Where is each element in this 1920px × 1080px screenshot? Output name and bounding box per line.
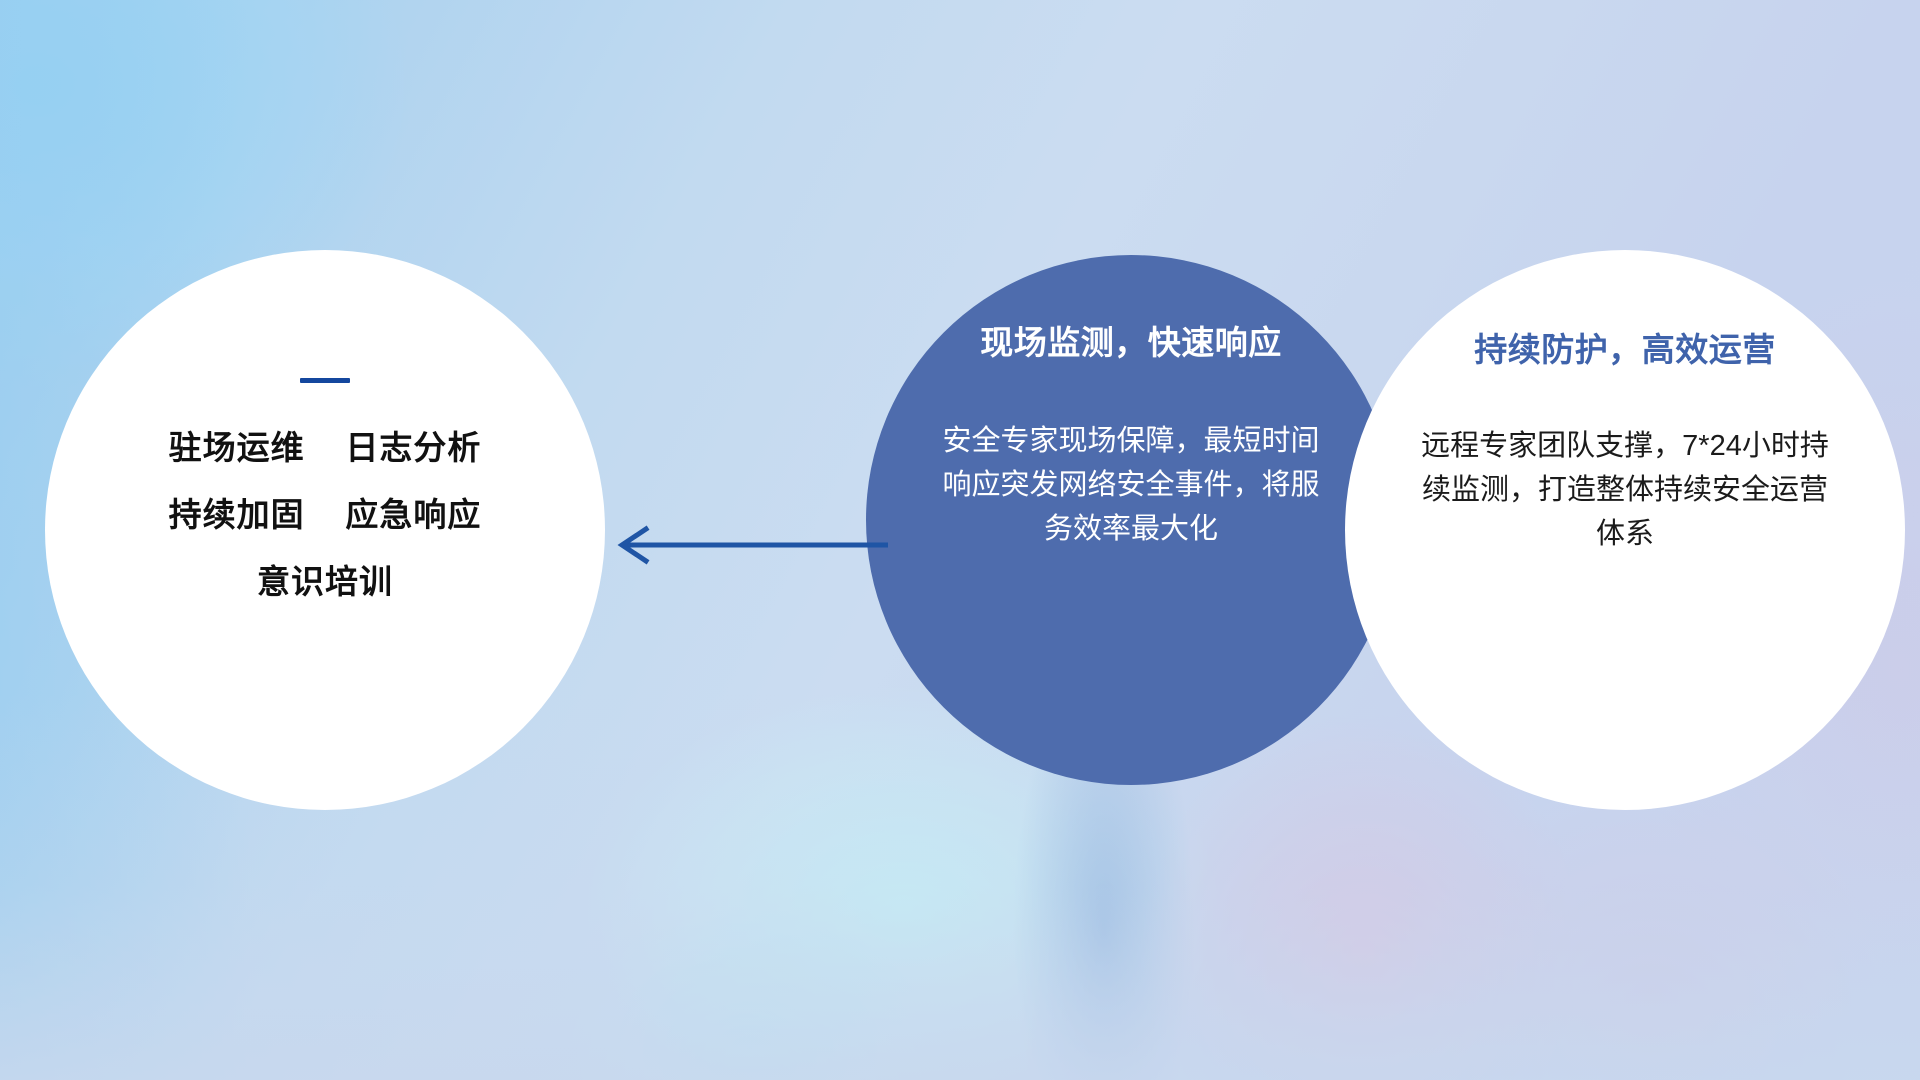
continuous-protection-circle[interactable]: 持续防护，高效运营 远程专家团队支撑，7*24小时持续监测，打造整体持续安全运营…	[1345, 250, 1905, 810]
onsite-monitoring-body: 安全专家现场保障，最短时间响应突发网络安全事件，将服务效率最大化	[941, 419, 1321, 551]
capabilities-content: 驻场运维 日志分析 持续加固 应急响应 意识培训	[45, 250, 605, 598]
slide-canvas: 驻场运维 日志分析 持续加固 应急响应 意识培训 现场监测，快速响应 安全专家现…	[0, 0, 1920, 1080]
capability-line-2: 持续加固 应急响应	[169, 498, 482, 531]
divider-dash-icon	[300, 378, 350, 383]
onsite-monitoring-title: 现场监测，快速响应	[980, 325, 1282, 361]
continuous-protection-title: 持续防护，高效运营	[1474, 332, 1776, 368]
onsite-monitoring-content: 现场监测，快速响应 安全专家现场保障，最短时间响应突发网络安全事件，将服务效率最…	[866, 255, 1396, 552]
capability-line-3: 意识培训	[257, 565, 393, 598]
onsite-monitoring-circle[interactable]: 现场监测，快速响应 安全专家现场保障，最短时间响应突发网络安全事件，将服务效率最…	[866, 255, 1396, 785]
continuous-protection-body: 远程专家团队支撑，7*24小时持续监测，打造整体持续安全运营体系	[1420, 424, 1830, 556]
continuous-protection-content: 持续防护，高效运营 远程专家团队支撑，7*24小时持续监测，打造整体持续安全运营…	[1345, 250, 1905, 557]
capabilities-circle[interactable]: 驻场运维 日志分析 持续加固 应急响应 意识培训	[45, 250, 605, 810]
flow-arrow-left-icon	[600, 515, 890, 575]
capability-line-1: 驻场运维 日志分析	[169, 431, 482, 464]
